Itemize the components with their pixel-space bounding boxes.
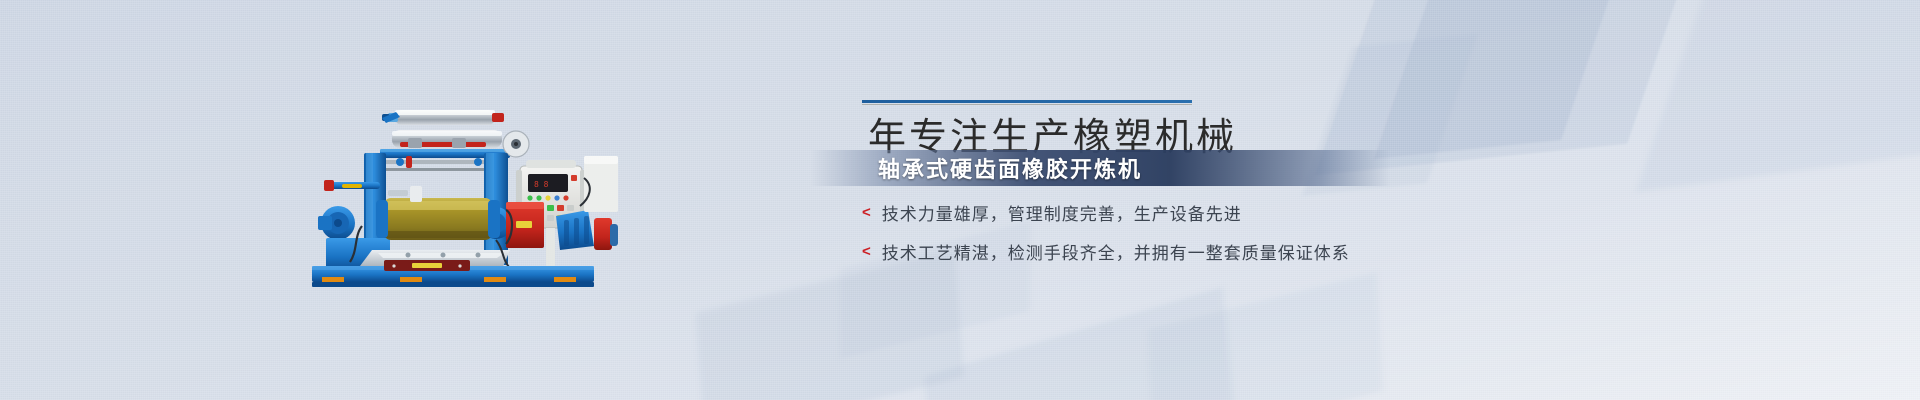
decorative-shape-6 <box>924 287 1236 400</box>
title-divider-underline <box>862 104 1192 105</box>
feature-text: 技术力量雄厚，管理制度完善，生产设备先进 <box>882 200 1242 225</box>
chevron-left-icon: < <box>862 205 872 220</box>
chevron-left-icon: < <box>862 244 872 259</box>
decorative-shape-4 <box>1635 0 1920 192</box>
decorative-shape-8 <box>1147 272 1383 400</box>
title-divider-line <box>862 100 1192 103</box>
decorative-shape-2 <box>1374 0 1622 159</box>
feature-list: < 技术力量雄厚，管理制度完善，生产设备先进 < 技术工艺精湛，检测手段齐全，并… <box>862 200 1350 278</box>
feature-text: 技术工艺精湛，检测手段齐全，并拥有一整套质量保证体系 <box>882 239 1350 264</box>
list-item: < 技术工艺精湛，检测手段齐全，并拥有一整套质量保证体系 <box>862 239 1350 264</box>
promo-banner: 8 8 <box>0 0 1920 400</box>
product-image-rubber-mixing-mill: 8 8 <box>288 98 618 288</box>
decorative-shape-1 <box>1315 0 1705 175</box>
svg-text:8 8: 8 8 <box>534 180 549 189</box>
list-item: < 技术力量雄厚，管理制度完善，生产设备先进 <box>862 200 1350 225</box>
subtitle-band: 轴承式硬齿面橡胶开炼机 <box>810 150 1390 186</box>
product-subtitle: 轴承式硬齿面橡胶开炼机 <box>878 152 1142 184</box>
